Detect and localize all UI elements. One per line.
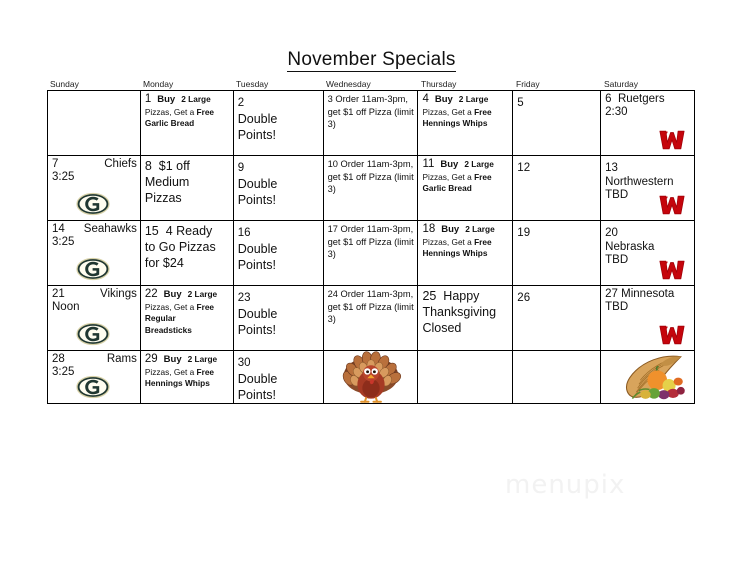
day-number: 13 [605, 162, 618, 174]
double-points-line-1: Double [238, 241, 320, 257]
double-points-content: 30DoublePoints! [238, 353, 320, 403]
big-text-content: 15 4 Readyto Go Pizzasfor $24 [145, 223, 230, 271]
promo-headline: 18Buy2 Large [422, 223, 509, 236]
calendar-day-cell-sunday-7[interactable]: 7Chiefs3:25 [48, 156, 141, 221]
day-number: 2 [238, 97, 244, 109]
day-number: 22 [145, 288, 158, 301]
kickoff-time: TBD [605, 301, 691, 314]
calendar-day-cell-sunday[interactable] [48, 91, 141, 156]
calendar-day-cell-monday-1[interactable]: 1Buy2 LargePizzas, Get a FreeGarlic Brea… [141, 91, 234, 156]
order-special-text: 24 Order 11am-3pm, get $1 off Pizza (lim… [328, 288, 415, 326]
day-header-saturday: Saturday [601, 79, 695, 89]
promo-headline: 1Buy2 Large [145, 93, 230, 106]
promo-word-buy: Buy [164, 354, 182, 365]
double-points-line-2: Points! [238, 257, 320, 273]
day-number: 4 [422, 93, 428, 106]
ncaa-game-header: 6 Ruetgers [605, 93, 691, 106]
big-text-content: 25 HappyThanksgivingClosed [422, 288, 509, 336]
double-points-line-1: Double [238, 176, 320, 192]
opponent-name: Chiefs [104, 158, 137, 171]
calendar-day-cell-tuesday-9[interactable]: 9DoublePoints! [234, 156, 324, 221]
day-number: 21 [52, 288, 65, 301]
promo-body: Pizzas, Get a FreeHennings Whips [422, 237, 509, 260]
promo-qty: 2 Large [464, 159, 494, 169]
calendar-day-cell-thursday-25[interactable]: 25 HappyThanksgivingClosed [418, 286, 513, 351]
calendar-day-cell-monday-22[interactable]: 22Buy2 LargePizzas, Get a FreeRegularBre… [141, 286, 234, 351]
big-text-content: 8 $1 offMediumPizzas [145, 158, 230, 206]
calendar-day-cell-wednesday-10[interactable]: 10 Order 11am-3pm, get $1 off Pizza (lim… [324, 156, 419, 221]
calendar-week-row: 14Seahawks3:2515 4 Readyto Go Pizzasfor … [48, 221, 695, 286]
calendar-day-cell-thursday[interactable] [418, 351, 513, 404]
green-bay-packers-g-logo [76, 192, 110, 216]
promo-headline: 22Buy2 Large [145, 288, 230, 301]
day-number: 14 [52, 223, 65, 236]
promo-body: Pizzas, Get a FreeHennings Whips [422, 107, 509, 130]
day-number: 25 [422, 289, 436, 303]
calendar-day-cell-monday-29[interactable]: 29Buy2 LargePizzas, Get a FreeHennings W… [141, 351, 234, 404]
kickoff-time: 3:25 [52, 171, 137, 184]
double-points-content: 23DoublePoints! [238, 288, 320, 338]
calendar-grid: 1Buy2 LargePizzas, Get a FreeGarlic Brea… [47, 90, 695, 404]
page-title-text: November Specials [287, 49, 455, 72]
day-number: 19 [517, 227, 530, 239]
order-special-text: 3 Order 11am-3pm, get $1 off Pizza (limi… [328, 93, 415, 131]
promo-body: Pizzas, Get a FreeGarlic Bread [145, 107, 230, 130]
day-number: 20 [605, 227, 618, 239]
day-number: 1 [145, 93, 151, 106]
turkey-illustration [340, 351, 402, 403]
double-points-content: 16DoublePoints! [238, 223, 320, 273]
promo-word-buy: Buy [441, 224, 459, 235]
green-bay-packers-g-logo [76, 322, 110, 346]
promo-qty: 2 Large [459, 94, 489, 104]
double-points-line-2: Points! [238, 192, 320, 208]
kickoff-time: Noon [52, 301, 137, 314]
nfl-game-header: 28Rams [52, 353, 137, 366]
promo-qty: 2 Large [188, 354, 218, 364]
day-number: 7 [52, 158, 58, 171]
day-number: 8 [145, 159, 152, 173]
day-number: 5 [517, 97, 523, 109]
promo-qty: 2 Large [188, 289, 218, 299]
nfl-game-header: 21Vikings [52, 288, 137, 301]
day-header-wednesday: Wednesday [323, 79, 418, 89]
promo-body: Pizzas, Get a FreeRegularBreadsticks [145, 302, 230, 336]
promo-word-buy: Buy [435, 94, 453, 105]
day-number: 26 [517, 292, 530, 304]
promo-word-buy: Buy [440, 159, 458, 170]
opponent-name: Vikings [100, 288, 137, 301]
promo-body: Pizzas, Get a FreeHennings Whips [145, 367, 230, 390]
calendar-day-cell-monday-15[interactable]: 15 4 Readyto Go Pizzasfor $24 [141, 221, 234, 286]
double-points-content: 9DoublePoints! [238, 158, 320, 208]
day-number: 16 [238, 227, 251, 239]
double-points-line-2: Points! [238, 322, 320, 338]
day-number: 12 [517, 162, 530, 174]
calendar-week-row: 21VikingsNoon22Buy2 LargePizzas, Get a F… [48, 286, 695, 351]
calendar-day-cell-wednesday[interactable] [324, 351, 419, 404]
green-bay-packers-g-logo [76, 257, 110, 281]
day-header-tuesday: Tuesday [233, 79, 323, 89]
opponent-name: Minnesota [621, 288, 674, 300]
calendar-day-cell-thursday-11[interactable]: 11Buy2 LargePizzas, Get a FreeGarlic Bre… [418, 156, 513, 221]
page-title: November Specials [0, 49, 743, 71]
day-number: 18 [422, 223, 435, 236]
calendar-day-cell-saturday-20[interactable]: 20NebraskaTBD [601, 221, 695, 286]
day-header-sunday: Sunday [47, 79, 140, 89]
opponent-name: Ruetgers [618, 93, 665, 105]
nfl-game-header: 14Seahawks [52, 223, 137, 236]
promo-body: Pizzas, Get a FreeGarlic Bread [422, 172, 509, 195]
calendar-day-cell-saturday-27[interactable]: 27 MinnesotaTBD [601, 286, 695, 351]
promo-headline: 4Buy2 Large [422, 93, 509, 106]
day-number: 29 [145, 353, 158, 366]
promo-word-buy: Buy [164, 289, 182, 300]
calendar-day-cell-thursday-18[interactable]: 18Buy2 LargePizzas, Get a FreeHennings W… [418, 221, 513, 286]
green-bay-packers-g-logo [76, 375, 110, 399]
double-points-line-2: Points! [238, 127, 320, 143]
day-number: 15 [145, 224, 159, 238]
calendar-week-row: 28Rams3:2529Buy2 LargePizzas, Get a Free… [48, 351, 695, 404]
day-number: 11 [422, 158, 434, 171]
double-points-line-1: Double [238, 111, 320, 127]
order-special-text: 10 Order 11am-3pm, get $1 off Pizza (lim… [328, 158, 415, 196]
calendar-day-cell-saturday-13[interactable]: 13NorthwesternTBD [601, 156, 695, 221]
double-points-line-1: Double [238, 306, 320, 322]
calendar-day-cell-tuesday-2[interactable]: 2DoublePoints! [234, 91, 324, 156]
wisconsin-w-logo [658, 193, 686, 217]
calendar-week-row: 1Buy2 LargePizzas, Get a FreeGarlic Brea… [48, 91, 695, 156]
kickoff-time: 3:25 [52, 236, 137, 249]
promo-headline: 29Buy2 Large [145, 353, 230, 366]
day-number: 23 [238, 292, 251, 304]
calendar-day-cell-friday-5[interactable]: 5 [513, 91, 601, 156]
wisconsin-w-logo [658, 323, 686, 347]
day-number: 28 [52, 353, 65, 366]
calendar-day-cell-wednesday-3[interactable]: 3 Order 11am-3pm, get $1 off Pizza (limi… [324, 91, 419, 156]
calendar-day-cell-friday-26[interactable]: 26 [513, 286, 601, 351]
day-header-friday: Friday [513, 79, 601, 89]
double-points-content: 2DoublePoints! [238, 93, 320, 143]
calendar-day-cell-sunday-21[interactable]: 21VikingsNoon [48, 286, 141, 351]
calendar-day-cell-tuesday-30[interactable]: 30DoublePoints! [234, 351, 324, 404]
calendar-page: November Specials Sunday Monday Tuesday … [0, 0, 743, 574]
day-header-thursday: Thursday [418, 79, 513, 89]
cornucopia-illustration [618, 351, 690, 403]
promo-word-buy: Buy [157, 94, 175, 105]
day-header-monday: Monday [140, 79, 233, 89]
calendar-week-row: 7Chiefs3:258 $1 offMediumPizzas9DoublePo… [48, 156, 695, 221]
opponent-name: Seahawks [84, 223, 137, 236]
calendar-day-cell-saturday-6[interactable]: 6 Ruetgers2:30 [601, 91, 695, 156]
opponent-name: Nebraska [605, 241, 691, 254]
day-number: 9 [238, 162, 244, 174]
day-number: 30 [238, 357, 251, 369]
wisconsin-w-logo [658, 128, 686, 152]
day-header-row: Sunday Monday Tuesday Wednesday Thursday… [47, 79, 695, 89]
double-points-line-1: Double [238, 371, 320, 387]
double-points-line-2: Points! [238, 387, 320, 403]
promo-qty: 2 Large [181, 94, 211, 104]
nfl-game-header: 7Chiefs [52, 158, 137, 171]
wisconsin-w-logo [658, 258, 686, 282]
calendar-day-cell-tuesday-23[interactable]: 23DoublePoints! [234, 286, 324, 351]
calendar-day-cell-sunday-14[interactable]: 14Seahawks3:25 [48, 221, 141, 286]
calendar-day-cell-tuesday-16[interactable]: 16DoublePoints! [234, 221, 324, 286]
calendar-day-cell-sunday-28[interactable]: 28Rams3:25 [48, 351, 141, 404]
promo-headline: 11Buy2 Large [422, 158, 509, 171]
menupix-watermark: menupix [505, 470, 625, 500]
calendar-day-cell-monday-8[interactable]: 8 $1 offMediumPizzas [141, 156, 234, 221]
calendar-day-cell-wednesday-17[interactable]: 17 Order 11am-3pm, get $1 off Pizza (lim… [324, 221, 419, 286]
calendar-day-cell-friday[interactable] [513, 351, 601, 404]
opponent-name: Rams [107, 353, 137, 366]
calendar-day-cell-thursday-4[interactable]: 4Buy2 LargePizzas, Get a FreeHennings Wh… [418, 91, 513, 156]
kickoff-time: 2:30 [605, 106, 691, 119]
calendar-day-cell-friday-19[interactable]: 19 [513, 221, 601, 286]
promo-qty: 2 Large [465, 224, 495, 234]
calendar-day-cell-saturday[interactable] [601, 351, 695, 404]
order-special-text: 17 Order 11am-3pm, get $1 off Pizza (lim… [328, 223, 415, 261]
opponent-name: Northwestern [605, 176, 691, 189]
calendar-day-cell-wednesday-24[interactable]: 24 Order 11am-3pm, get $1 off Pizza (lim… [324, 286, 419, 351]
ncaa-game-header: 27 Minnesota [605, 288, 691, 301]
calendar-day-cell-friday-12[interactable]: 12 [513, 156, 601, 221]
